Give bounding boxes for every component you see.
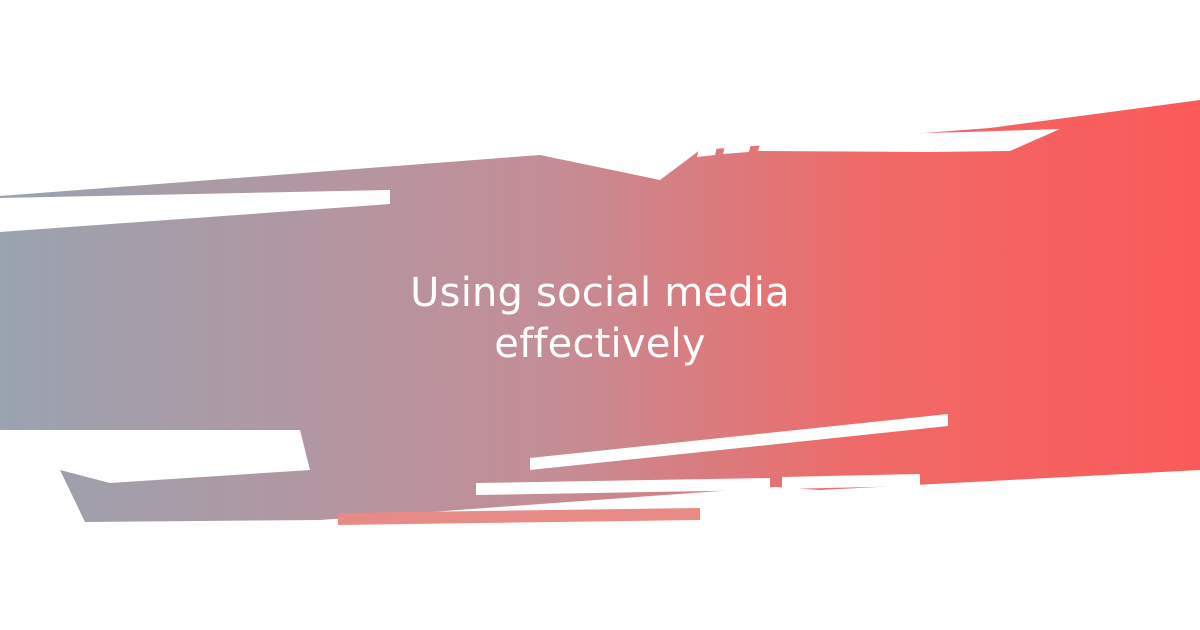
- banner-graphic: [0, 0, 1200, 630]
- top-dash-medium: [723, 139, 752, 154]
- top-dash-long: [758, 132, 966, 152]
- top-dash-small: [697, 143, 718, 157]
- banner-canvas: Using social media effectively: [0, 0, 1200, 630]
